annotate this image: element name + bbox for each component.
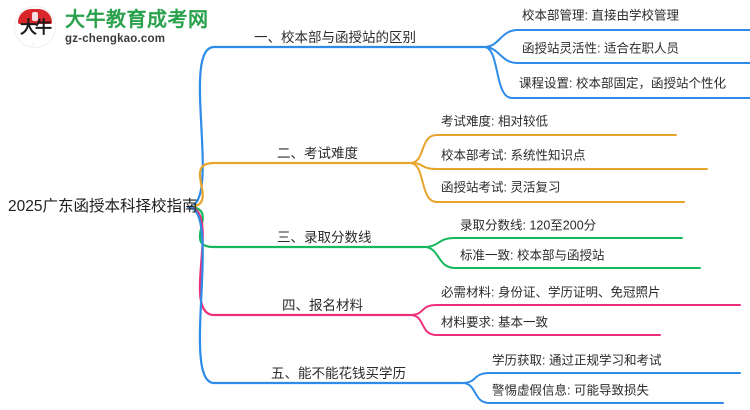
branch-4-label[interactable]: 四、报名材料 [282,298,363,314]
branch-4-child-2[interactable]: 材料要求: 基本一致 [441,316,548,331]
logo-mark-text: 大牛 [15,18,55,37]
branch-4-child-1[interactable]: 必需材料: 身份证、学历证明、免冠照片 [441,286,660,301]
branch-5-child-1[interactable]: 学历获取: 通过正规学习和考试 [492,354,661,369]
branch-1-child-2[interactable]: 函授站灵活性: 适合在职人员 [522,42,679,57]
mindmap-root-node[interactable]: 2025广东函授本科择校指南 [8,198,197,216]
branch-1-child-3[interactable]: 课程设置: 校本部固定，函授站个性化 [519,77,726,92]
site-logo: 大牛 大牛教育成考网 gz-chengkao.com [14,6,209,48]
branch-3-child-1[interactable]: 录取分数线: 120至200分 [460,219,596,234]
branch-1-label[interactable]: 一、校本部与函授站的区别 [254,30,416,46]
branch-5-label[interactable]: 五、能不能花钱买学历 [271,366,406,382]
branch-2-child-2[interactable]: 校本部考试: 系统性知识点 [441,149,585,164]
logo-badge-icon: 大牛 [14,6,56,48]
logo-title: 大牛教育成考网 [65,9,209,31]
branch-2-child-1[interactable]: 考试难度: 相对较低 [441,115,548,130]
logo-wordmark: 大牛教育成考网 gz-chengkao.com [65,9,209,46]
branch-2-label[interactable]: 二、考试难度 [277,146,358,162]
mindmap-canvas: 大牛 大牛教育成考网 gz-chengkao.com 2025广东函授本科择校指… [0,0,750,410]
branch-1-child-1[interactable]: 校本部管理: 直接由学校管理 [522,9,679,24]
branch-3-label[interactable]: 三、录取分数线 [277,230,372,246]
branch-5-child-2[interactable]: 警惕虚假信息: 可能导致损失 [492,384,649,399]
branch-3-child-2[interactable]: 标准一致: 校本部与函授站 [460,249,604,264]
logo-subtitle: gz-chengkao.com [65,32,209,46]
branch-2-child-3[interactable]: 函授站考试: 灵活复习 [441,181,560,196]
